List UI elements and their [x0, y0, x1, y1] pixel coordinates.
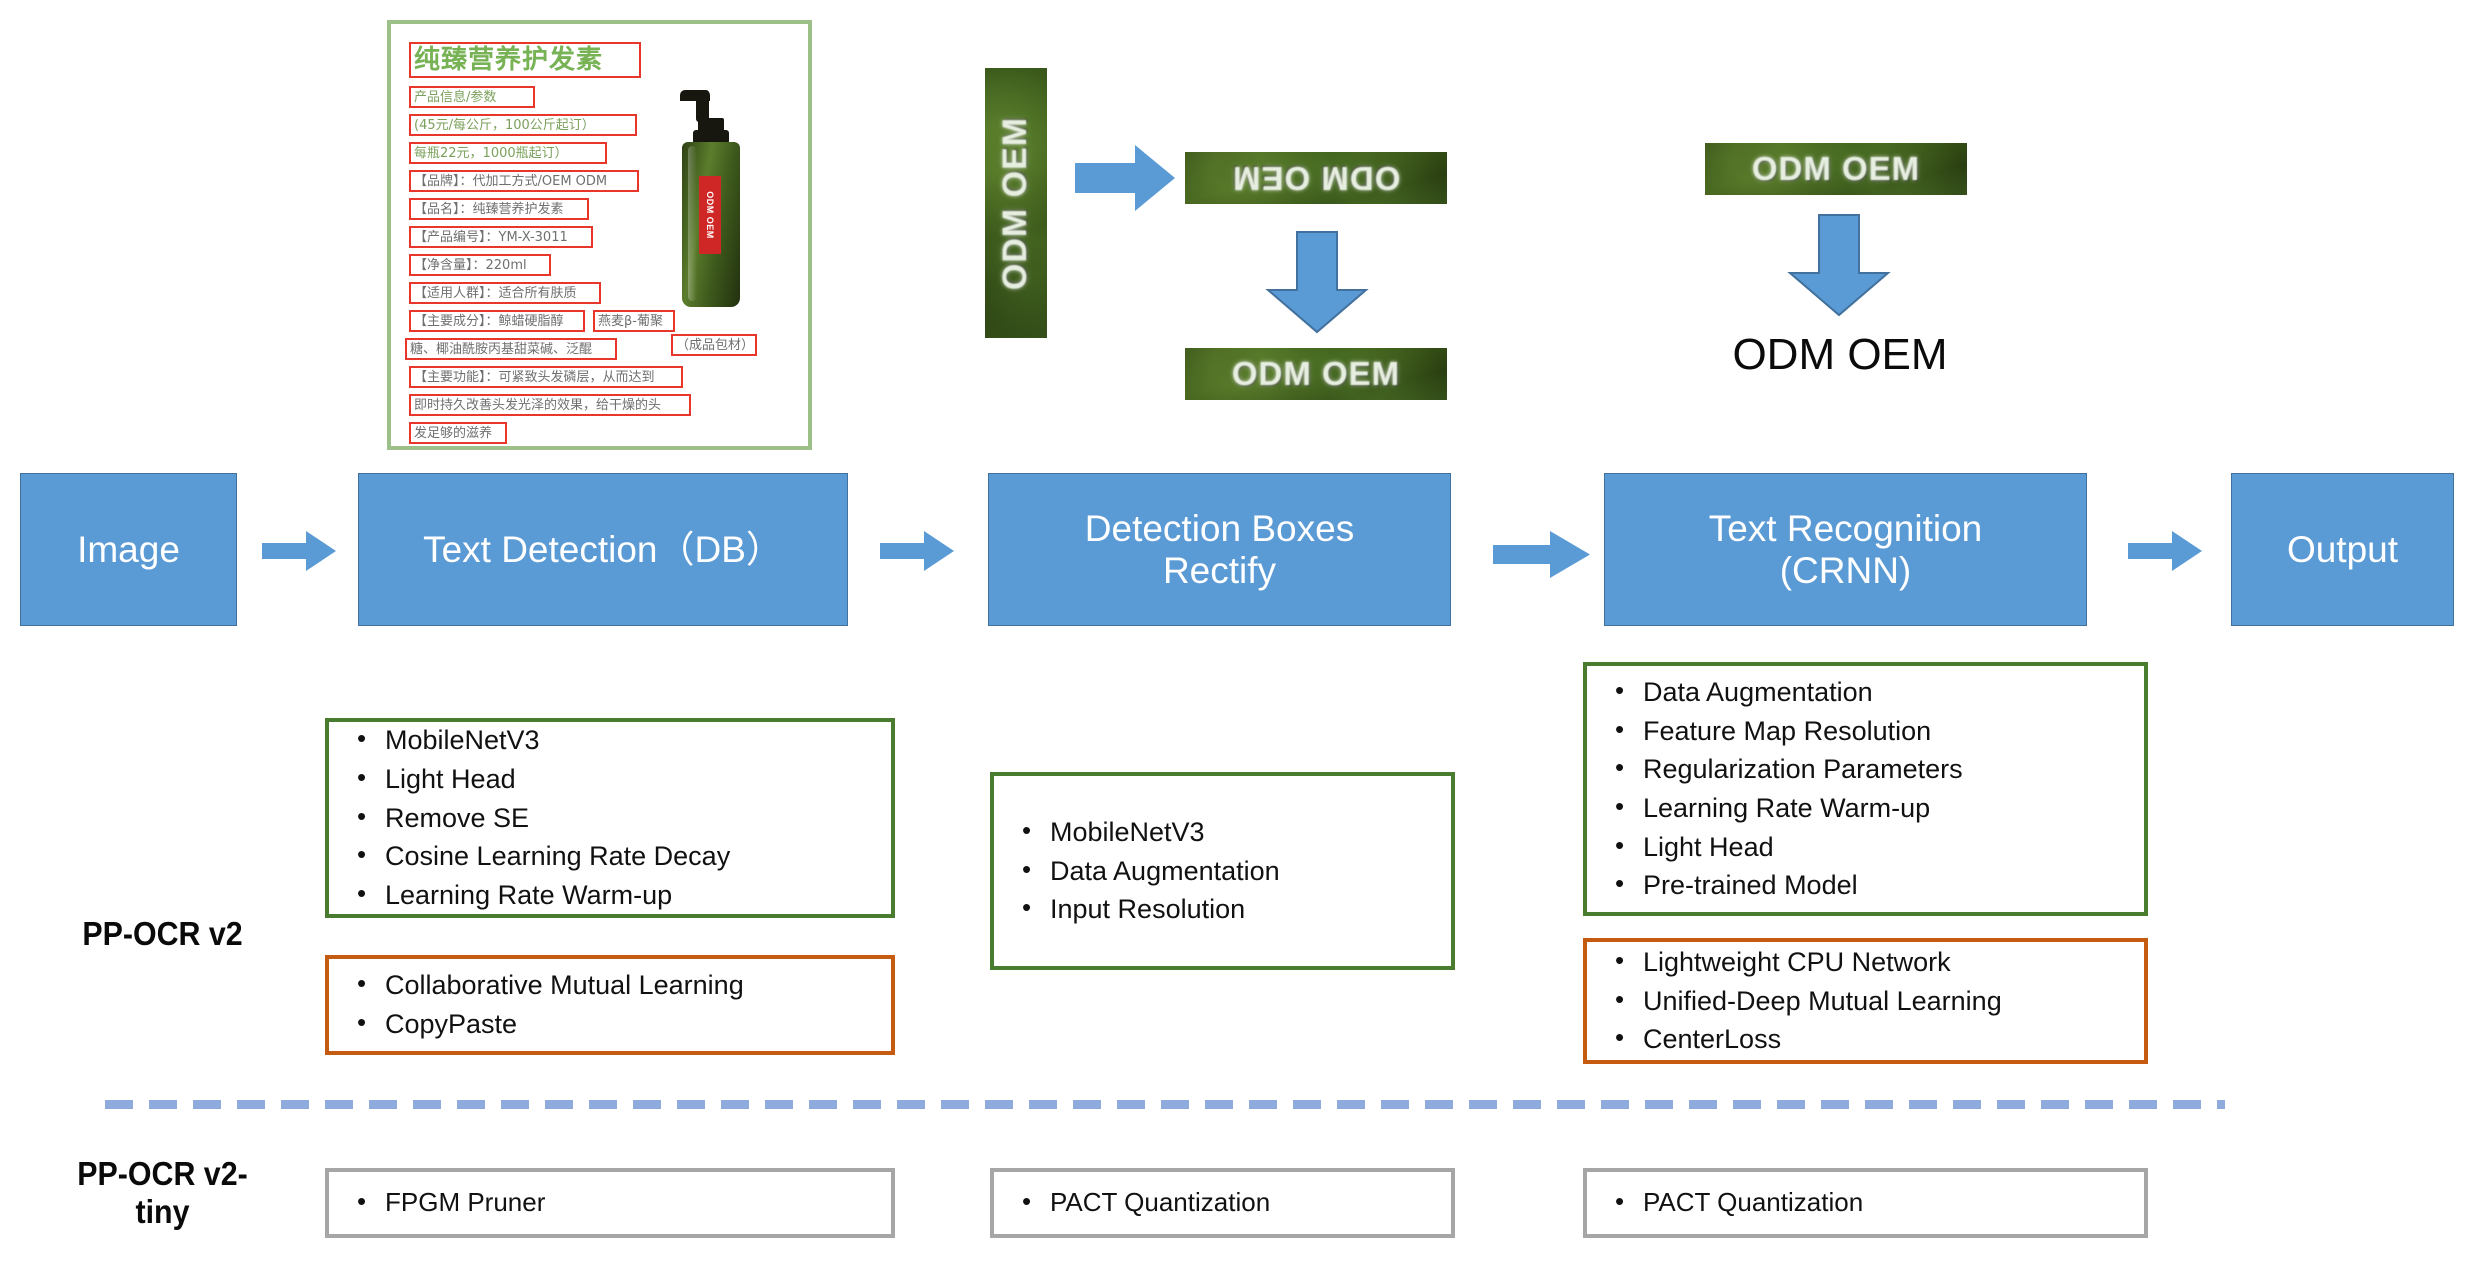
feature-box-detection-green: MobileNetV3Light HeadRemove SECosine Lea…: [325, 718, 895, 918]
flipped-text-crop: ODM OEM: [1185, 152, 1447, 204]
feature-list-item: Pre-trained Model: [1605, 866, 2126, 905]
row-label-ppocr-v2-tiny: PP-OCR v2-tiny: [41, 1155, 285, 1231]
arrow-rectify-to-recog: [1493, 531, 1590, 578]
arrow-detect-to-rectify: [880, 531, 954, 571]
arrow-image-to-detect: [262, 531, 336, 571]
detected-text-box: 纯臻营养护发素: [409, 42, 641, 78]
feature-box-recognition-green: Data AugmentationFeature Map ResolutionR…: [1583, 662, 2148, 916]
detected-text-box: 【产品编号】：YM-X-3011: [409, 226, 593, 248]
feature-list-item: CenterLoss: [1605, 1020, 2126, 1059]
recognition-input-crop: ODM OEM: [1705, 143, 1967, 195]
feature-list-item: Unified-Deep Mutual Learning: [1605, 982, 2126, 1021]
vertical-text-crop-label: ODM OEM: [997, 116, 1036, 289]
flipped-text-crop-label: ODM OEM: [1232, 159, 1400, 197]
bottle-highlight: [688, 146, 697, 301]
ocr-sample-document: ODM OEM 纯臻营养护发素产品信息/参数(45元/每公斤，100公斤起订）每…: [387, 20, 812, 450]
detected-text-box: 发足够的滋养: [409, 422, 507, 444]
section-divider: [105, 1100, 2225, 1109]
feature-box-tiny-detection: FPGM Pruner: [325, 1168, 895, 1238]
feature-list-item: Light Head: [347, 760, 873, 799]
detected-text-box: 即时持久改善头发光泽的效果，给干燥的头: [409, 394, 691, 416]
feature-list-item: FPGM Pruner: [347, 1184, 873, 1221]
feature-list-item: Light Head: [1605, 828, 2126, 867]
feature-box-tiny-recognition: PACT Quantization: [1583, 1168, 2148, 1238]
detected-text-box: 产品信息/参数: [409, 86, 535, 108]
arrow-flipped-to-rectified: [1268, 232, 1366, 332]
ocr-sample-document-inner: ODM OEM 纯臻营养护发素产品信息/参数(45元/每公斤，100公斤起订）每…: [391, 24, 808, 446]
feature-list-item: Learning Rate Warm-up: [347, 876, 873, 915]
pipeline-stage-label: Output: [2287, 529, 2398, 570]
feature-list-item: Regularization Parameters: [1605, 750, 2126, 789]
feature-box-rectify-green: MobileNetV3Data AugmentationInput Resolu…: [990, 772, 1455, 970]
rectified-text-crop: ODM OEM: [1185, 348, 1447, 400]
pipeline-stage-image[interactable]: Image: [20, 473, 237, 626]
detected-text-box: （成品包材）: [671, 334, 757, 356]
pipeline-stage-label: Image: [77, 529, 180, 570]
detected-text-box: 【适用人群】：适合所有肤质: [409, 282, 601, 304]
bottle-brand-label: ODM OEM: [699, 176, 721, 254]
pipeline-stage-rectify[interactable]: Detection BoxesRectify: [988, 473, 1451, 626]
detected-text-box: 【主要功能】：可紧致头发磷层，从而达到: [409, 366, 683, 388]
bottle-brand-label-text: ODM OEM: [705, 191, 715, 239]
rectified-text-crop-label: ODM OEM: [1232, 355, 1400, 393]
pipeline-stage-detect[interactable]: Text Detection（DB）: [358, 473, 848, 626]
detected-text-box: 燕麦β-葡聚: [593, 310, 675, 332]
feature-list-item: Data Augmentation: [1012, 852, 1433, 891]
recognition-input-crop-label: ODM OEM: [1752, 150, 1920, 188]
feature-box-recognition-orange: Lightweight CPU NetworkUnified-Deep Mutu…: [1583, 938, 2148, 1064]
detected-text-box: 【品名】：纯臻营养护发素: [409, 198, 589, 220]
feature-box-tiny-rectify: PACT Quantization: [990, 1168, 1455, 1238]
row-label-ppocr-v2: PP-OCR v2: [41, 915, 285, 953]
pipeline-stage-label: Text Detection（DB）: [423, 529, 783, 570]
pipeline-stage-label: Detection BoxesRectify: [1085, 508, 1354, 591]
pipeline-stage-label: Text Recognition(CRNN): [1709, 508, 1983, 591]
feature-list-item: PACT Quantization: [1012, 1184, 1433, 1221]
feature-list-item: Feature Map Resolution: [1605, 712, 2126, 751]
pipeline-stage-output[interactable]: Output: [2231, 473, 2454, 626]
detected-text-box: 【主要成分】：鲸蜡硬脂醇: [409, 310, 585, 332]
recognition-output-text: ODM OEM: [1690, 325, 1990, 385]
detected-text-box: 【净含量】：220ml: [409, 254, 551, 276]
arrow-recognition-to-output: [1790, 215, 1888, 315]
feature-list-item: Input Resolution: [1012, 890, 1433, 929]
feature-list-item: MobileNetV3: [1012, 813, 1433, 852]
feature-box-detection-orange: Collaborative Mutual LearningCopyPaste: [325, 955, 895, 1055]
feature-list-item: Remove SE: [347, 799, 873, 838]
arrow-recog-to-output: [2128, 531, 2202, 571]
feature-list-item: PACT Quantization: [1605, 1184, 2126, 1221]
feature-list-item: Learning Rate Warm-up: [1605, 789, 2126, 828]
vertical-text-crop: ODM OEM: [985, 68, 1047, 338]
product-bottle-illustration: ODM OEM: [666, 84, 756, 314]
feature-list-item: Data Augmentation: [1605, 673, 2126, 712]
feature-list-item: MobileNetV3: [347, 721, 873, 760]
bottle-neck: [698, 118, 724, 144]
pipeline-stage-recog[interactable]: Text Recognition(CRNN): [1604, 473, 2087, 626]
detected-text-box: (45元/每公斤，100公斤起订）: [409, 114, 637, 136]
feature-list-item: Collaborative Mutual Learning: [347, 966, 873, 1005]
arrow-crop-to-flipped: [1075, 145, 1175, 211]
detected-text-box: 【品牌】：代加工方式/OEM ODM: [409, 170, 639, 192]
detected-text-box: 每瓶22元，1000瓶起订）: [409, 142, 607, 164]
detected-text-box: 糖、椰油酰胺丙基甜菜碱、泛醌: [405, 338, 617, 360]
feature-list-item: CopyPaste: [347, 1005, 873, 1044]
feature-list-item: Lightweight CPU Network: [1605, 943, 2126, 982]
feature-list-item: Cosine Learning Rate Decay: [347, 837, 873, 876]
